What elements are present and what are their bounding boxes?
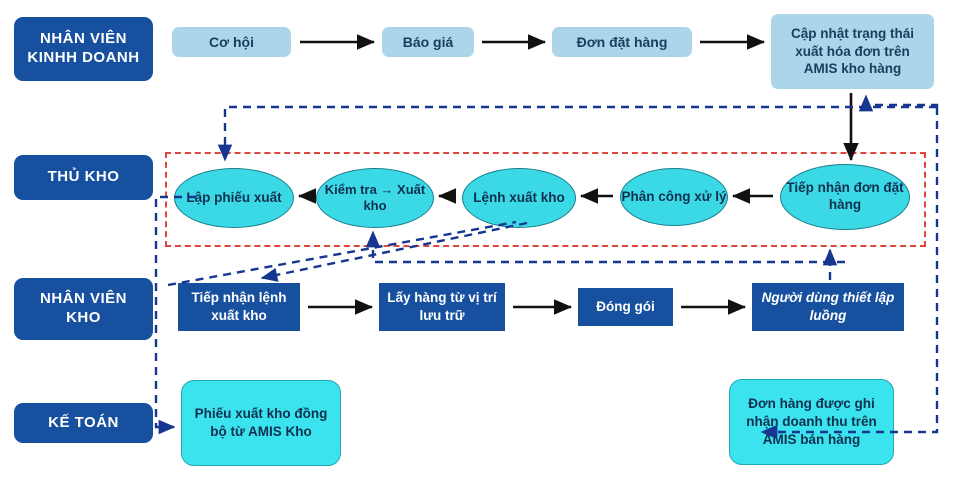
lane-label-warehouse-staff: NHÂN VIÊN KHO (14, 278, 153, 340)
node-phieu-xuat-kho-dong-bo[interactable]: Phiếu xuất kho đồng bộ từ AMIS Kho (181, 380, 341, 466)
node-bao-gia-label: Báo giá (403, 33, 454, 51)
lane-label-warehouse-staff-text: NHÂN VIÊN KHO (40, 290, 127, 328)
node-phan-cong-xu-ly[interactable]: Phân công xử lý (620, 168, 728, 226)
node-dong-goi[interactable]: Đóng gói (578, 288, 673, 326)
node-co-hoi-label: Cơ hội (209, 33, 254, 51)
lane-label-accounting-text: KẾ TOÁN (48, 414, 119, 433)
node-lenh-xuat-kho-label: Lệnh xuất kho (473, 190, 565, 207)
lane-label-warehouse-keeper-text: THỦ KHO (48, 168, 120, 187)
node-lap-phieu-xuat-label: Lập phiếu xuất (186, 190, 281, 207)
node-kiem-tra-xuat-kho[interactable]: Kiểm tra → Xuất kho (316, 168, 434, 228)
node-don-hang-ghi-nhan-doanh-thu-label: Đơn hàng được ghi nhận doanh thu trên AM… (737, 395, 886, 450)
node-phieu-xuat-kho-dong-bo-label: Phiếu xuất kho đồng bộ từ AMIS Kho (190, 405, 332, 441)
node-kiem-tra-xuat-kho-label: Kiểm tra → Xuất kho (317, 182, 433, 215)
dashed-rightrail-to-capnhat (866, 96, 937, 107)
node-lay-hang-tu-vi-tri-luu-tru[interactable]: Lấy hàng từ vị trí lưu trữ (379, 283, 505, 331)
node-co-hoi[interactable]: Cơ hội (172, 27, 291, 57)
node-lenh-xuat-kho[interactable]: Lệnh xuất kho (462, 168, 576, 228)
node-tiep-nhan-lenh-xuat-kho[interactable]: Tiếp nhận lệnh xuất kho (178, 283, 300, 331)
node-cap-nhat-trang-thai[interactable]: Cập nhật trạng thái xuất hóa đơn trên AM… (771, 14, 934, 89)
node-don-hang-ghi-nhan-doanh-thu[interactable]: Đơn hàng được ghi nhận doanh thu trên AM… (729, 379, 894, 465)
node-lap-phieu-xuat[interactable]: Lập phiếu xuất (174, 168, 294, 228)
node-nguoi-dung-thiet-lap-luong[interactable]: Người dùng thiết lập luồng (752, 283, 904, 331)
lane-label-sales-text: NHÂN VIÊN KINHH DOANH (27, 30, 139, 68)
node-nguoi-dung-thiet-lap-luong-label: Người dùng thiết lập luồng (752, 289, 904, 324)
node-tiep-nhan-lenh-xuat-kho-label: Tiếp nhận lệnh xuất kho (178, 289, 300, 324)
node-cap-nhat-trang-thai-label: Cập nhật trạng thái xuất hóa đơn trên AM… (777, 25, 928, 78)
node-tiep-nhan-don-dat-hang-label: Tiếp nhận đơn đặt hàng (781, 180, 909, 214)
node-don-dat-hang-label: Đơn đặt hàng (577, 33, 668, 51)
diagram-canvas: NHÂN VIÊN KINHH DOANH THỦ KHO NHÂN VIÊN … (0, 0, 953, 485)
node-bao-gia[interactable]: Báo giá (382, 27, 474, 57)
node-tiep-nhan-don-dat-hang[interactable]: Tiếp nhận đơn đặt hàng (780, 164, 910, 230)
lane-label-sales: NHÂN VIÊN KINHH DOANH (14, 17, 153, 81)
lane-label-warehouse-keeper: THỦ KHO (14, 155, 153, 200)
node-phan-cong-xu-ly-label: Phân công xử lý (621, 189, 726, 206)
node-dong-goi-label: Đóng gói (596, 298, 654, 316)
lane-label-accounting: KẾ TOÁN (14, 403, 153, 443)
node-lay-hang-tu-vi-tri-luu-tru-label: Lấy hàng từ vị trí lưu trữ (379, 289, 505, 324)
node-don-dat-hang[interactable]: Đơn đặt hàng (552, 27, 692, 57)
